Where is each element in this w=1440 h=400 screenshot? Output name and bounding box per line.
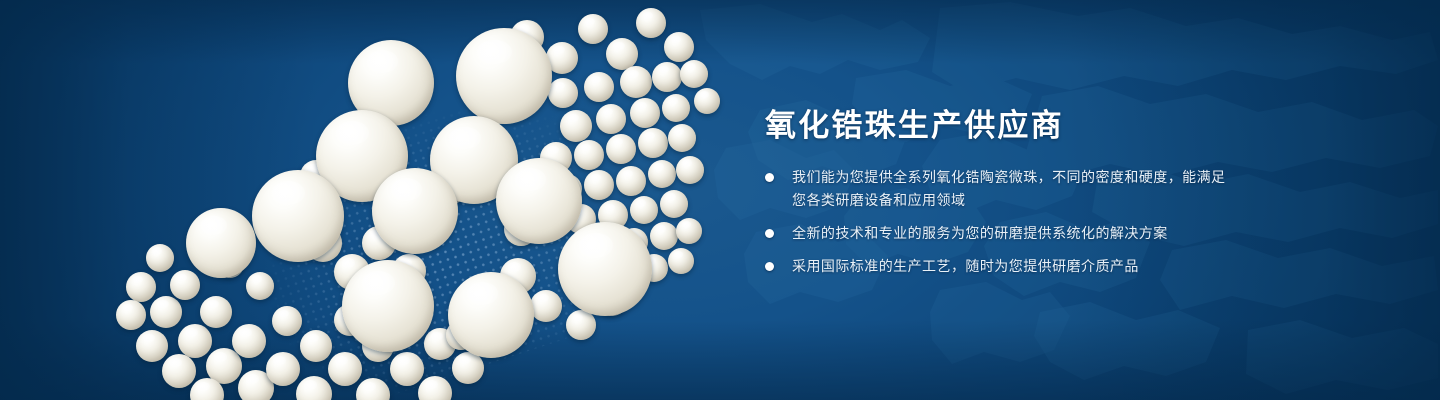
- feature-bullet-list: 我们能为您提供全系列氧化锆陶瓷微珠，不同的密度和硬度，能满足您各类研磨设备和应用…: [765, 166, 1235, 278]
- bullet-dot-icon: [765, 173, 774, 182]
- hero-banner: 氧化锆珠生产供应商 我们能为您提供全系列氧化锆陶瓷微珠，不同的密度和硬度，能满足…: [0, 0, 1440, 400]
- bullet-dot-icon: [765, 229, 774, 238]
- page-title: 氧化锆珠生产供应商: [765, 106, 1235, 146]
- bullet-dot-icon: [765, 262, 774, 271]
- list-item: 我们能为您提供全系列氧化锆陶瓷微珠，不同的密度和硬度，能满足您各类研磨设备和应用…: [765, 166, 1235, 212]
- zirconia-beads-photo: [0, 0, 760, 400]
- list-item-label: 采用国际标准的生产工艺，随时为您提供研磨介质产品: [792, 255, 1235, 278]
- list-item-label: 我们能为您提供全系列氧化锆陶瓷微珠，不同的密度和硬度，能满足您各类研磨设备和应用…: [792, 166, 1235, 212]
- list-item: 采用国际标准的生产工艺，随时为您提供研磨介质产品: [765, 255, 1235, 278]
- list-item-label: 全新的技术和专业的服务为您的研磨提供系统化的解决方案: [792, 222, 1235, 245]
- list-item: 全新的技术和专业的服务为您的研磨提供系统化的解决方案: [765, 222, 1235, 245]
- banner-copy: 氧化锆珠生产供应商 我们能为您提供全系列氧化锆陶瓷微珠，不同的密度和硬度，能满足…: [765, 106, 1235, 278]
